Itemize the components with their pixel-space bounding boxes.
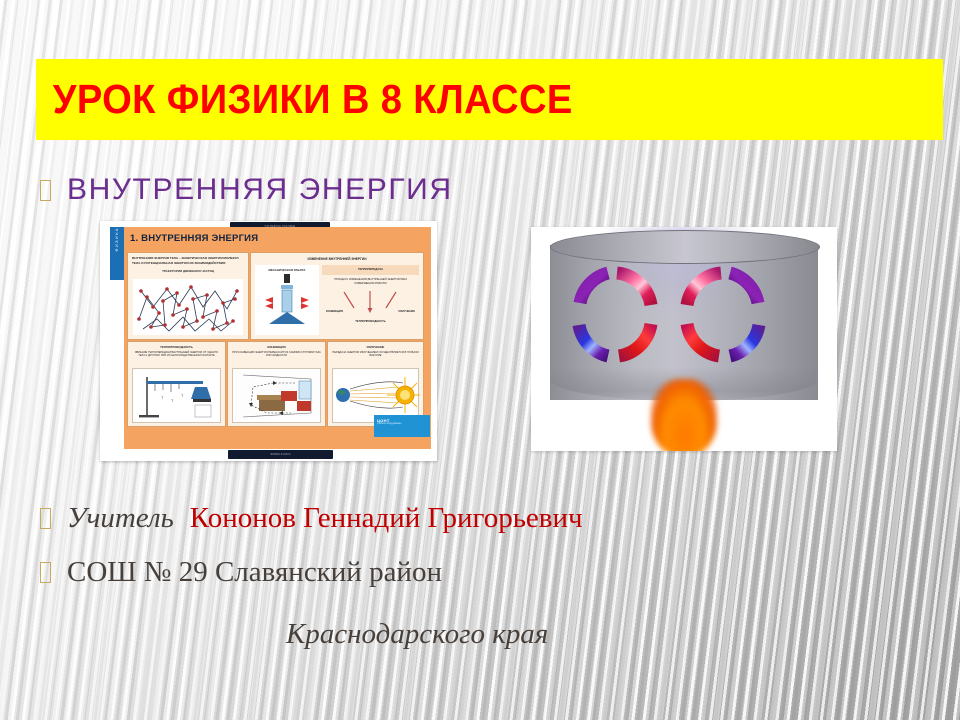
bullet-box-icon bbox=[40, 562, 51, 583]
bullet-box-icon bbox=[40, 508, 51, 529]
bullet-subtitle: ВНУТРЕННЯЯ ЭНЕРГИЯ bbox=[40, 173, 453, 207]
bullet-box-icon bbox=[40, 180, 51, 201]
bullet-school: СОШ № 29 Славянский район bbox=[40, 556, 442, 589]
poster-logo: ЦОНТ учебное оборудование bbox=[374, 415, 430, 437]
region-line-row: Краснодарского края bbox=[286, 618, 548, 651]
poster-card-definition: ВНУТРЕННЯЯ ЭНЕРГИЯ ТЕЛА – КИНЕТИЧЕСКАЯ Э… bbox=[127, 252, 249, 340]
trajectory-svg bbox=[133, 279, 243, 335]
poster-logo-sub: учебное оборудование bbox=[374, 423, 430, 426]
teacher-label: Учитель bbox=[67, 502, 174, 535]
svg-text:T: T bbox=[161, 395, 164, 400]
page-title: УРОК ФИЗИКИ В 8 КЛАССЕ bbox=[36, 76, 573, 123]
teacher-name: Кононов Геннадий Григорьевич bbox=[190, 502, 583, 535]
illustration-heated-cylinder bbox=[531, 227, 837, 451]
piston-diagram bbox=[255, 272, 319, 328]
radiation-svg bbox=[333, 369, 420, 421]
region-text: Краснодарского края bbox=[286, 618, 548, 650]
poster-definition-text: ВНУТРЕННЯЯ ЭНЕРГИЯ ТЕЛА – КИНЕТИЧЕСКАЯ Э… bbox=[128, 253, 248, 265]
conduction-svg: TTT bbox=[133, 369, 222, 421]
poster-bottom-bar-text: ФИЗИКА 8 КЛАСС bbox=[228, 450, 333, 459]
svg-text:T: T bbox=[171, 398, 174, 403]
bullet-teacher: Учитель Кононов Геннадий Григорьевич bbox=[40, 502, 583, 535]
convection-svg bbox=[233, 369, 322, 421]
poster-trajectory-caption: ТРАЕКТОРИЯ ДВИЖЕНИЯ ЧАСТИЦ bbox=[128, 269, 248, 273]
poster-card-energy-change: ИЗМЕНЕНИЕ ВНУТРЕННЕЙ ЭНЕРГИИ МЕХАНИЧЕСКА… bbox=[250, 252, 424, 340]
poster-mechanical-work-panel: МЕХАНИЧЕСКАЯ РАБОТА bbox=[255, 265, 319, 335]
poster-body: ВНУТРЕННЯЯ ЭНЕРГИЯ ТЕЛА – КИНЕТИЧЕСКАЯ Э… bbox=[124, 249, 431, 449]
poster-side-strip-text: ФИЗИКА bbox=[110, 227, 124, 255]
poster-card-conduction-desc: ЯВЛЕНИЕ ТЕПЛОПЕРЕДАЧИ ВНУТРЕННЕЙ ЭНЕРГИИ… bbox=[128, 349, 225, 358]
school-text: СОШ № 29 Славянский район bbox=[67, 556, 442, 589]
heat-ways-arrows bbox=[322, 288, 419, 318]
slide-canvas: УРОК ФИЗИКИ В 8 КЛАССЕ ВНУТРЕННЯЯ ЭНЕРГИ… bbox=[0, 0, 960, 720]
poster-card-conduction: ТЕПЛОПРОВОДНОСТЬ ЯВЛЕНИЕ ТЕПЛОПЕРЕДАЧИ В… bbox=[127, 341, 226, 427]
poster-side-strip: ФИЗИКА bbox=[110, 227, 124, 280]
cylinder-top-ellipse bbox=[550, 230, 820, 264]
poster-card-convection-desc: ПРИ КОНВЕКЦИИ ЭНЕРГИЯ ПЕРЕНОСИТСЯ САМИМИ… bbox=[228, 349, 325, 358]
title-banner: УРОК ФИЗИКИ В 8 КЛАССЕ bbox=[36, 59, 943, 140]
poster-convection-illustration bbox=[232, 368, 321, 423]
poster-trajectory-diagram bbox=[133, 279, 243, 335]
poster-image-internal-energy: НАГЛЯДНОЕ ПОСОБИЕ ФИЗИКА 1. ВНУТРЕННЯЯ Э… bbox=[100, 221, 437, 461]
arc-ring-left bbox=[564, 263, 667, 366]
poster-heat-ways: КОНВЕКЦИЯ ИЗЛУЧЕНИЕ ТЕПЛОПРОВОДНОСТЬ bbox=[322, 288, 419, 326]
poster-logo-name: ЦОНТ bbox=[374, 415, 430, 423]
poster-header-title: 1. ВНУТРЕННЯЯ ЭНЕРГИЯ bbox=[130, 233, 258, 244]
flame bbox=[651, 379, 717, 451]
arc-ring-right bbox=[671, 263, 774, 366]
poster-conduction-illustration: TTT bbox=[132, 368, 221, 423]
svg-text:T: T bbox=[181, 393, 184, 398]
poster-way-radiation: ИЗЛУЧЕНИЕ bbox=[399, 310, 415, 313]
poster-heat-transfer-desc: ПРОЦЕСС ИЗМЕНЕНИЯ ВНУТРЕННЕЙ ЭНЕРГИИ БЕЗ… bbox=[322, 275, 419, 289]
poster-header: 1. ВНУТРЕННЯЯ ЭНЕРГИЯ bbox=[124, 227, 431, 249]
poster-heat-transfer-title: ТЕПЛОПЕРЕДАЧА bbox=[322, 265, 419, 275]
poster-card-radiation-desc: ПЕРЕДАЧА ЭНЕРГИИ ИЗЛУЧЕНИЕМ ОСУЩЕСТВЛЯЕТ… bbox=[328, 349, 423, 358]
poster-card-convection: КОНВЕКЦИЯ ПРИ КОНВЕКЦИИ ЭНЕРГИЯ ПЕРЕНОСИ… bbox=[227, 341, 326, 427]
subtitle-text: ВНУТРЕННЯЯ ЭНЕРГИЯ bbox=[67, 173, 453, 207]
poster-bottom-bar: ФИЗИКА 8 КЛАСС bbox=[228, 450, 333, 459]
poster-way-conduction: ТЕПЛОПРОВОДНОСТЬ bbox=[322, 320, 419, 323]
poster-heat-transfer-panel: ТЕПЛОПЕРЕДАЧА ПРОЦЕСС ИЗМЕНЕНИЯ ВНУТРЕНН… bbox=[322, 265, 419, 335]
poster-way-convection: КОНВЕКЦИЯ bbox=[326, 310, 343, 313]
poster-energy-change-header: ИЗМЕНЕНИЕ ВНУТРЕННЕЙ ЭНЕРГИИ bbox=[251, 257, 423, 261]
